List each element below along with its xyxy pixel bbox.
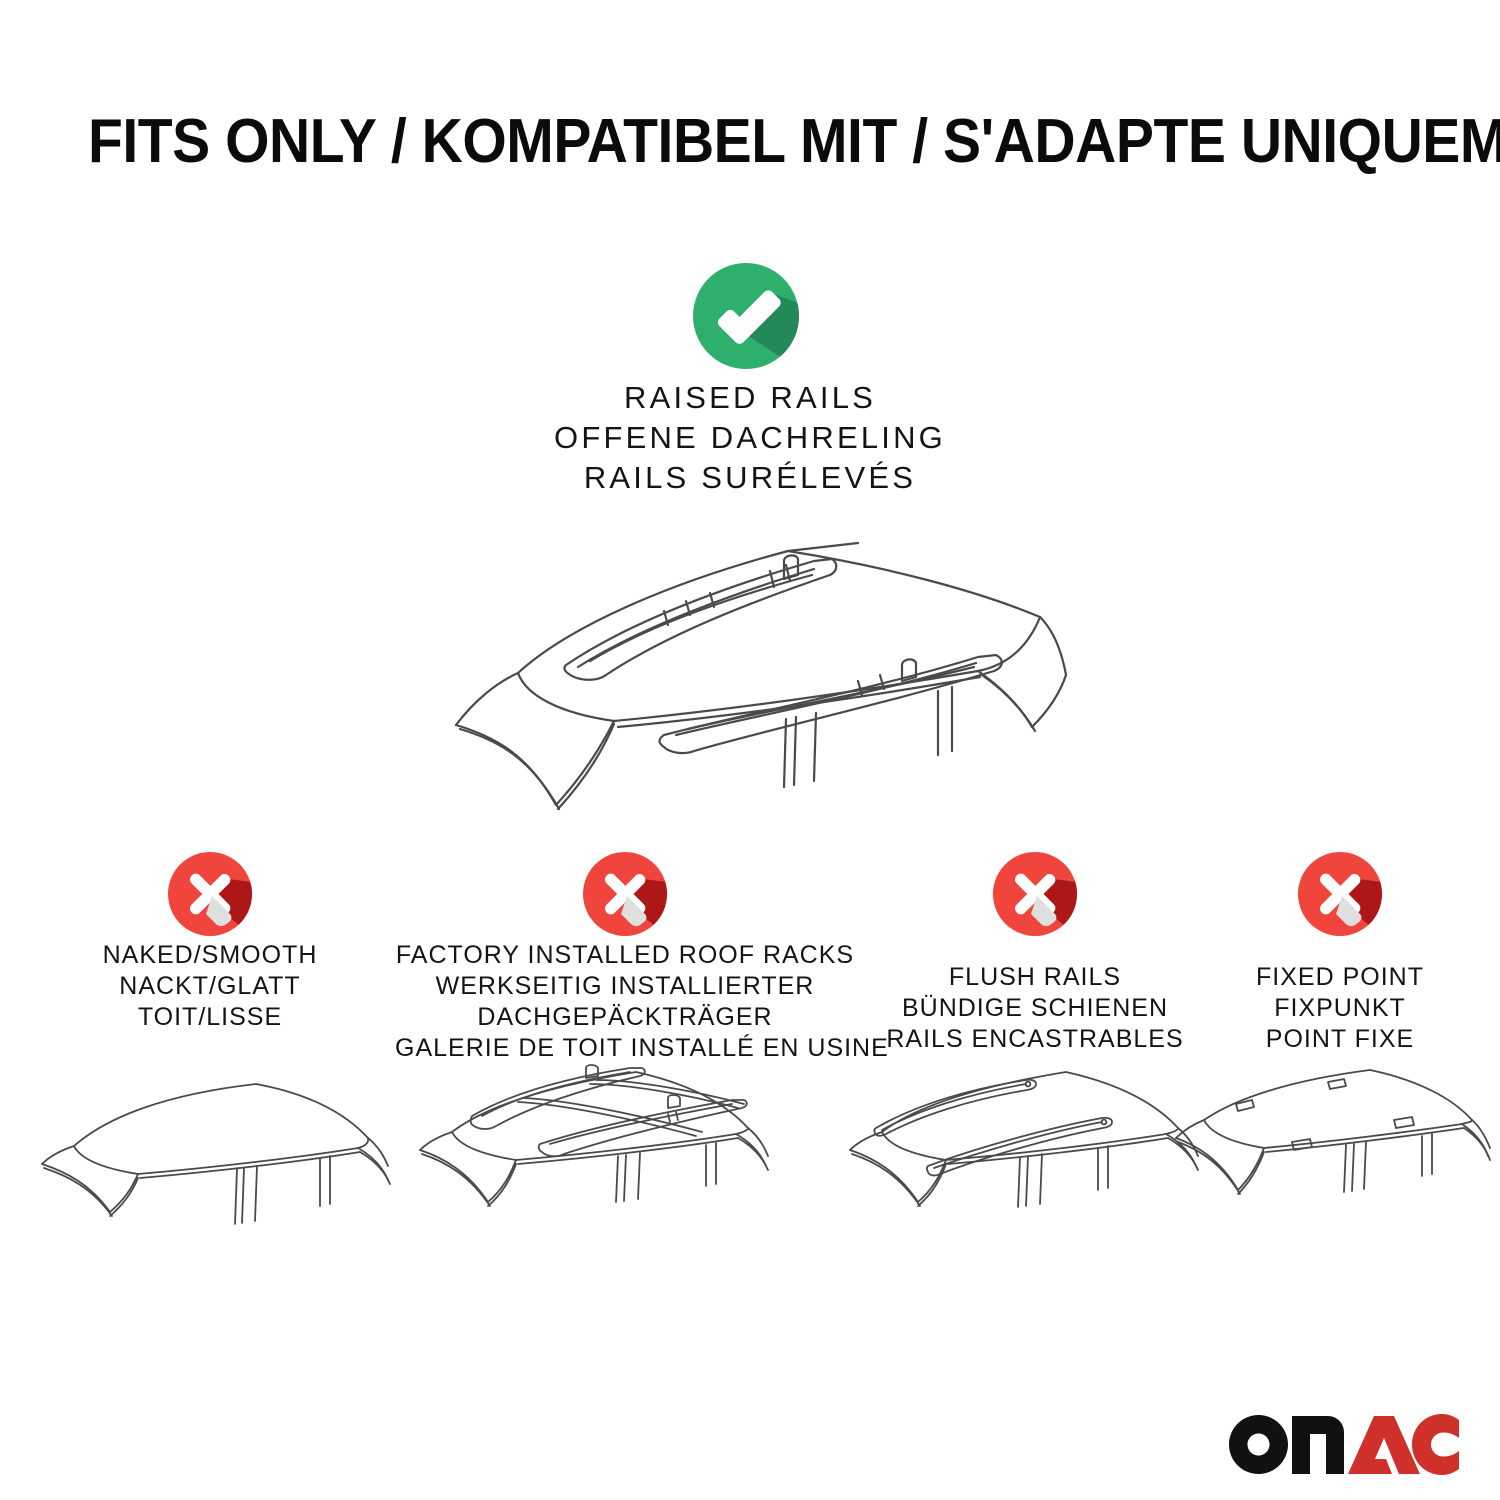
car-roof-raised-rails-illustration	[418, 505, 1083, 835]
label-line-1: NAKED/SMOOTH	[40, 940, 380, 971]
label-line-1: FACTORY INSTALLED ROOF RACKS	[395, 940, 855, 971]
omac-logo-letter-c	[1412, 1414, 1459, 1475]
compatible-label-line-3: RAILS SURÉLEVÉS	[380, 458, 1120, 498]
incompatible-label-naked-smooth: NAKED/SMOOTH NACKT/GLATT TOIT/LISSE	[40, 940, 380, 1033]
label-line-3: TOIT/LISSE	[40, 1002, 380, 1033]
car-roof-naked-smooth-illustration	[28, 1062, 408, 1292]
page-title: FITS ONLY / KOMPATIBEL MIT / S'ADAPTE UN…	[88, 108, 1321, 176]
car-roof-flush-rails-illustration	[830, 1062, 1220, 1292]
omac-logo-letter-o	[1229, 1415, 1288, 1474]
check-circle-icon	[693, 263, 799, 369]
car-roof-fixed-point-illustration	[1170, 1062, 1500, 1292]
omac-logo-letter-a	[1348, 1416, 1420, 1474]
label-line-3: POINT FIXE	[1160, 1024, 1500, 1055]
x-mark-glyph	[1298, 852, 1382, 936]
label-line-3: DACHGEPÄCKTRÄGER	[395, 1002, 855, 1033]
x-mark-glyph	[993, 852, 1077, 936]
label-line-4: GALERIE DE TOIT INSTALLÉ EN USINE	[395, 1033, 855, 1064]
check-mark-glyph	[693, 263, 799, 369]
x-mark-glyph	[583, 852, 667, 936]
omac-logo-letter-m	[1292, 1416, 1344, 1474]
incompatible-label-fixed-point: FIXED POINT FIXPUNKT POINT FIXE	[1160, 962, 1500, 1055]
x-circle-icon	[168, 852, 252, 936]
car-roof-factory-racks-illustration	[400, 1062, 790, 1292]
compatible-label: RAISED RAILS OFFENE DACHRELING RAILS SUR…	[380, 378, 1120, 498]
compatible-label-line-2: OFFENE DACHRELING	[380, 418, 1120, 458]
label-line-1: FIXED POINT	[1160, 962, 1500, 993]
label-line-2: WERKSEITIG INSTALLIERTER	[395, 971, 855, 1002]
compatible-label-line-1: RAISED RAILS	[380, 378, 1120, 418]
label-line-2: FIXPUNKT	[1160, 993, 1500, 1024]
label-line-2: NACKT/GLATT	[40, 971, 380, 1002]
omac-logo	[1228, 1414, 1460, 1476]
x-circle-icon	[583, 852, 667, 936]
incompatible-label-factory-racks: FACTORY INSTALLED ROOF RACKS WERKSEITIG …	[395, 940, 855, 1064]
x-circle-icon	[1298, 852, 1382, 936]
x-circle-icon	[993, 852, 1077, 936]
x-mark-glyph	[168, 852, 252, 936]
